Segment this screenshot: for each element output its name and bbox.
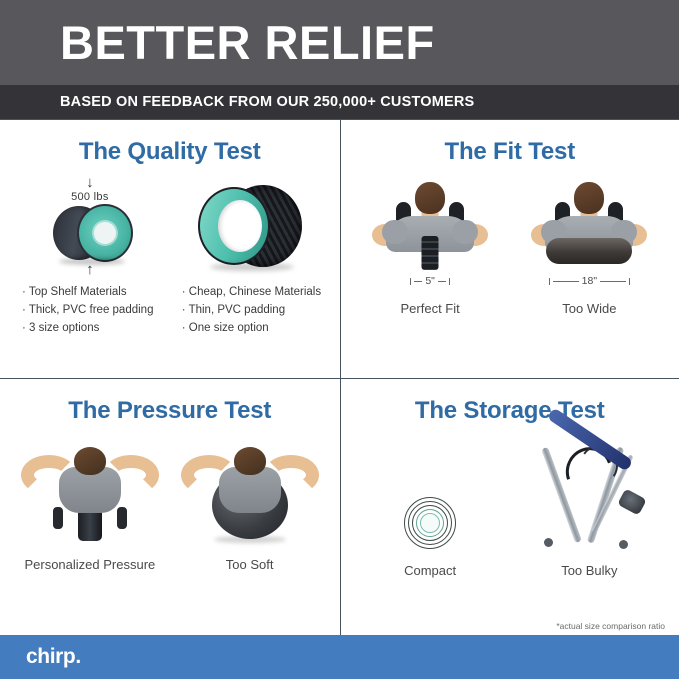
- measure-value: 5": [425, 275, 435, 287]
- person-with-chirp-wheel-image: [374, 180, 486, 272]
- chirp-wheel-stage: ↓ 500 lbs ↑: [10, 172, 170, 280]
- bullet-item: · Cheap, Chinese Materials: [182, 284, 321, 302]
- storage-title: The Storage Test: [415, 397, 605, 425]
- person-with-roller-image: [533, 180, 645, 272]
- measure-bar-right: [600, 281, 626, 282]
- wheel-shadow: [210, 263, 294, 271]
- competitor-wheel-image: [198, 185, 302, 267]
- tick-left: [410, 278, 411, 285]
- person-on-exercise-ball-image: [187, 441, 313, 541]
- fit-ours: 5" Perfect Fit: [351, 172, 510, 372]
- foam-roller-device: [546, 238, 632, 264]
- sleeve-right: [452, 220, 478, 244]
- fit-ours-caption: Perfect Fit: [401, 301, 460, 316]
- head: [74, 447, 106, 475]
- storage-pair: Compact: [351, 431, 670, 630]
- head: [574, 182, 604, 214]
- quadrant-quality: The Quality Test ↓ 500 lbs: [0, 120, 340, 378]
- storage-footnote: *actual size comparison ratio: [556, 621, 665, 631]
- chirp-wheel-image: [53, 204, 127, 262]
- pressure-pair: Personalized Pressure Too Soft: [10, 431, 330, 630]
- bullet-item: · Thin, PVC padding: [182, 302, 321, 320]
- wheel-face: [77, 204, 133, 262]
- storage-theirs-caption: Too Bulky: [561, 563, 617, 578]
- pressure-ours: Personalized Pressure: [10, 431, 170, 630]
- quality-ours-bullets: · Top Shelf Materials · Thick, PVC free …: [22, 284, 153, 337]
- tick-right: [629, 278, 630, 285]
- head: [234, 447, 266, 475]
- quality-pair: ↓ 500 lbs ↑: [10, 172, 330, 372]
- fit-title: The Fit Test: [445, 138, 576, 166]
- header-subtitle: BASED ON FEEDBACK FROM OUR 250,000+ CUST…: [0, 94, 474, 110]
- quality-ours: ↓ 500 lbs ↑: [10, 172, 170, 372]
- arrow-down-icon: ↓: [86, 175, 94, 190]
- fit-pair: 5" Perfect Fit: [351, 172, 670, 372]
- quality-title: The Quality Test: [79, 138, 261, 166]
- pressure-theirs: Too Soft: [170, 431, 330, 630]
- page-title: BETTER RELIEF: [0, 19, 435, 66]
- table-knob: [618, 488, 648, 515]
- storage-theirs: Too Bulky: [510, 431, 669, 630]
- measure-value: 18": [582, 275, 597, 287]
- bullet-item: · One size option: [182, 320, 321, 338]
- fit-ours-measurement: 5": [410, 275, 450, 287]
- measure-bar-left: [553, 281, 579, 282]
- inversion-table-image: [528, 431, 650, 549]
- pressure-title: The Pressure Test: [68, 397, 271, 425]
- fit-theirs: 18" Too Wide: [510, 172, 669, 372]
- tick-right: [449, 278, 450, 285]
- fit-theirs-measurement: 18": [549, 275, 630, 287]
- tick-left: [549, 278, 550, 285]
- bullet-item: · 3 size options: [22, 320, 153, 338]
- competitor-wheel-stage: [170, 172, 330, 280]
- wheel-shadow: [59, 258, 125, 265]
- head: [415, 182, 445, 214]
- measure-bar-right: [438, 281, 446, 282]
- quality-theirs-bullets: · Cheap, Chinese Materials · Thin, PVC p…: [182, 284, 321, 337]
- wheel-hub: [94, 222, 116, 244]
- header-banner: BETTER RELIEF: [0, 0, 679, 85]
- sleeve-left: [382, 220, 408, 244]
- footer-bar: chirp.: [0, 635, 679, 679]
- table-foot-left: [544, 538, 553, 547]
- foot-left: [53, 507, 63, 529]
- measure-bar-left: [414, 281, 422, 282]
- chirp-wheel-topdown-icon: [404, 497, 456, 549]
- table-foot-right: [619, 540, 628, 549]
- chirp-logo: chirp.: [0, 645, 81, 669]
- quadrant-fit: The Fit Test: [340, 120, 679, 378]
- ring-5: [420, 513, 440, 533]
- foot-right: [117, 507, 127, 529]
- header-subbanner: BASED ON FEEDBACK FROM OUR 250,000+ CUST…: [0, 85, 679, 119]
- fit-theirs-caption: Too Wide: [562, 301, 616, 316]
- quality-theirs: · Cheap, Chinese Materials · Thin, PVC p…: [170, 172, 330, 372]
- comparison-grid: The Quality Test ↓ 500 lbs: [0, 119, 679, 635]
- storage-ours: Compact: [351, 431, 510, 630]
- pressure-theirs-caption: Too Soft: [226, 557, 274, 572]
- load-label: 500 lbs: [71, 191, 109, 203]
- pressure-ours-caption: Personalized Pressure: [24, 557, 155, 572]
- infographic-page: BETTER RELIEF BASED ON FEEDBACK FROM OUR…: [0, 0, 679, 679]
- quadrant-pressure: The Pressure Test Pe: [0, 378, 340, 636]
- storage-ours-caption: Compact: [404, 563, 456, 578]
- wheel-opening: [218, 200, 262, 252]
- quadrant-storage: The Storage Test Compact: [340, 378, 679, 636]
- chirp-wheel-device: [422, 236, 439, 270]
- bullet-item: · Top Shelf Materials: [22, 284, 153, 302]
- bullet-item: · Thick, PVC free padding: [22, 302, 153, 320]
- person-on-chirp-wheel-image: [27, 441, 153, 541]
